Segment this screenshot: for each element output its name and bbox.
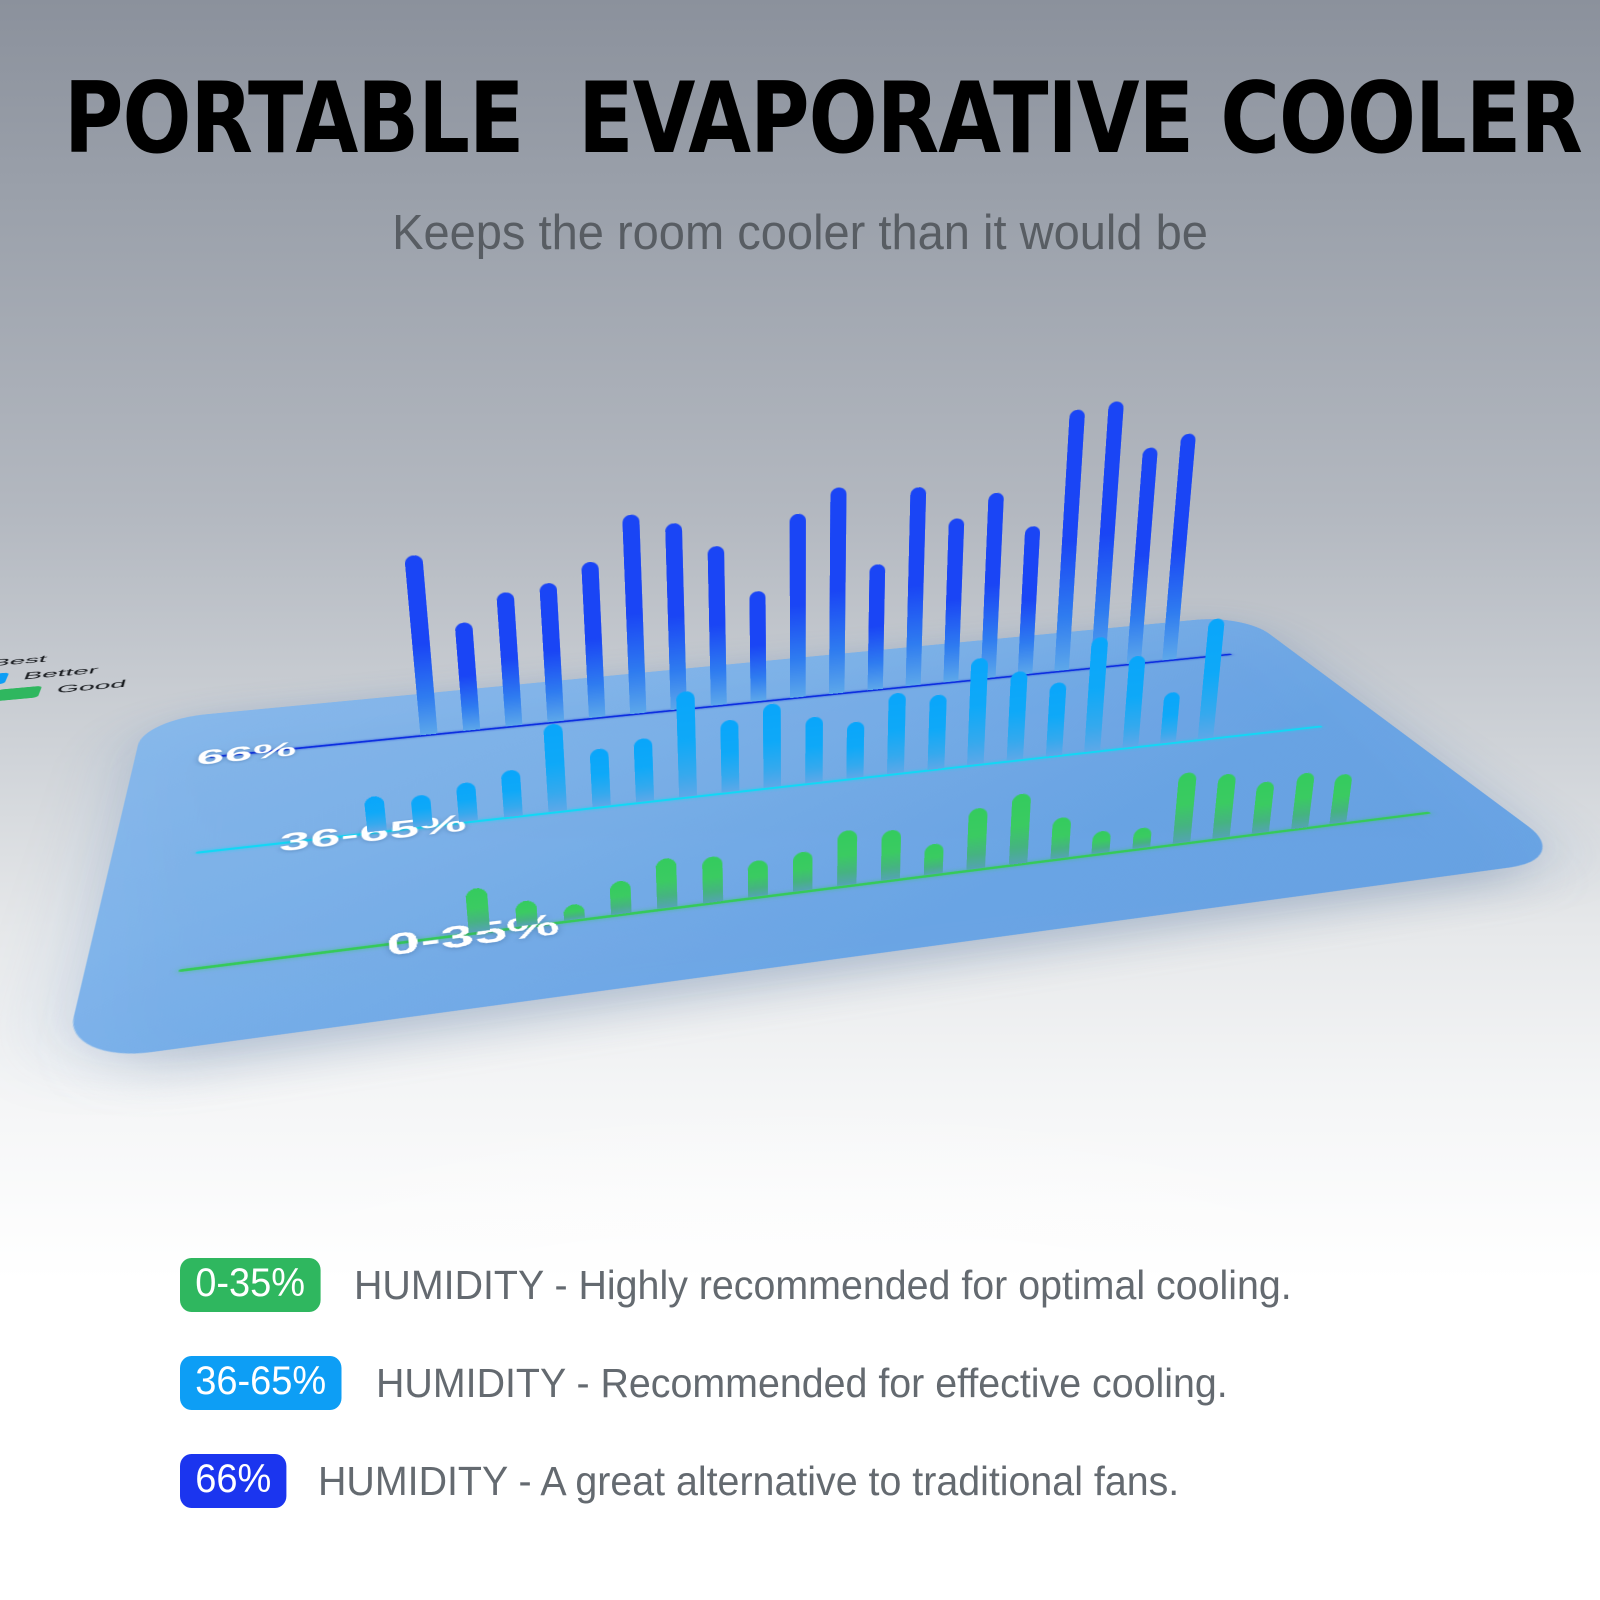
note-text-best: HUMIDITY - A great alternative to tradit… (318, 1458, 1179, 1505)
bar (805, 716, 823, 783)
bar (748, 859, 769, 897)
note-row-best: 66% HUMIDITY - A great alternative to tr… (180, 1454, 1480, 1508)
bar (411, 794, 433, 827)
bar (927, 694, 947, 770)
bar (515, 899, 538, 926)
infographic-canvas: PORTABLE EVAPORATIVE COOLER Keeps the ro… (0, 0, 1600, 1600)
humidity-notes: 0-35% HUMIDITY - Highly recommended for … (180, 1258, 1480, 1552)
bar (456, 782, 478, 823)
bar (793, 851, 813, 892)
legend-swatch-better-icon (0, 672, 9, 687)
bar (881, 829, 902, 881)
page-title: PORTABLE EVAPORATIVE COOLER (64, 62, 1536, 176)
bar (609, 880, 631, 915)
bar (563, 903, 585, 920)
bar (633, 738, 654, 803)
badge-66: 66% (180, 1454, 286, 1508)
bar (676, 690, 697, 797)
chart-plane-world: 66% 36-65% 0-35% Best Better Good (63, 615, 1573, 1064)
bar (655, 857, 677, 909)
note-text-better: HUMIDITY - Recommended for effective coo… (376, 1360, 1228, 1407)
badge-0-35: 0-35% (180, 1258, 320, 1312)
bar (1091, 830, 1111, 854)
bar (829, 487, 847, 694)
chart-3d-scene: 66% 36-65% 0-35% Best Better Good (0, 300, 1600, 1250)
bar (364, 795, 387, 832)
note-row-good: 0-35% HUMIDITY - Highly recommended for … (180, 1258, 1480, 1312)
bar (846, 721, 864, 779)
note-row-better: 36-65% HUMIDITY - Recommended for effect… (180, 1356, 1480, 1410)
bar (707, 545, 726, 705)
legend-label-good: Good (55, 678, 128, 696)
badge-36-65: 36-65% (180, 1356, 341, 1410)
legend-label-better: Better (21, 664, 100, 682)
bar (867, 564, 885, 691)
bar (924, 843, 944, 876)
bar (763, 703, 781, 788)
bar (1050, 816, 1071, 859)
page-subtitle: Keeps the room cooler than it would be (32, 205, 1568, 261)
note-text-good: HUMIDITY - Highly recommended for optima… (354, 1262, 1292, 1309)
bar (789, 513, 805, 698)
bar (1009, 793, 1032, 865)
bar (887, 692, 906, 774)
bar (749, 591, 766, 702)
bar (702, 855, 723, 903)
legend-swatch-good-icon (0, 686, 42, 702)
bar (590, 748, 611, 807)
bar (501, 769, 523, 817)
chart-legend: Best Better Good (0, 641, 185, 714)
bar (966, 807, 988, 870)
bar (720, 719, 739, 793)
bar (837, 829, 857, 886)
bar (465, 887, 490, 933)
legend-label-best: Best (0, 653, 49, 669)
